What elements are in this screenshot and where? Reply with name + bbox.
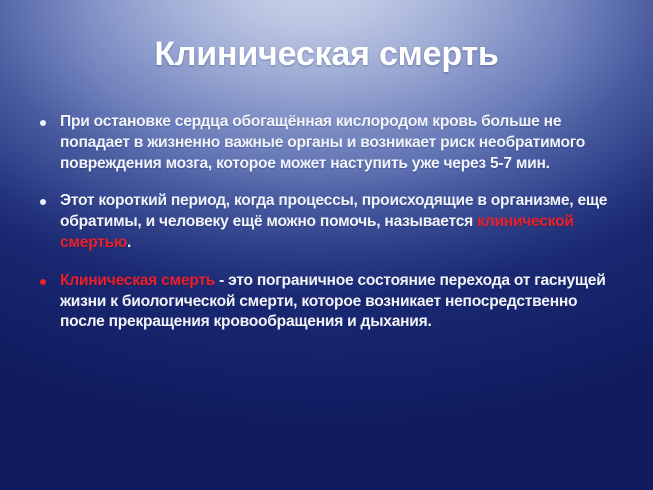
bullet-dot-icon (40, 279, 46, 285)
bullet-text-2: Этот короткий период, когда процессы, пр… (60, 191, 625, 253)
highlighted-term: Клиническая смерть (60, 272, 215, 289)
slide-title-container: Клиническая смерть (0, 34, 653, 74)
bullet-text-1: При остановке сердца обогащённая кислоро… (60, 112, 625, 174)
bullet-segment: . (127, 234, 131, 251)
bullet-dot-icon (40, 120, 46, 126)
bullet-text-3: Клиническая смерть - это пограничное сос… (60, 271, 625, 333)
slide-body: При остановке сердца обогащённая кислоро… (33, 112, 625, 333)
list-item: Этот короткий период, когда процессы, пр… (33, 191, 625, 253)
list-item: Клиническая смерть - это пограничное сос… (33, 271, 625, 333)
bullet-dot-icon (40, 199, 46, 205)
presentation-slide: Клиническая смерть При остановке сердца … (0, 0, 653, 490)
bullet-segment: При остановке сердца обогащённая кислоро… (60, 113, 585, 172)
page-title: Клиническая смерть (154, 34, 498, 74)
list-item: При остановке сердца обогащённая кислоро… (33, 112, 625, 174)
